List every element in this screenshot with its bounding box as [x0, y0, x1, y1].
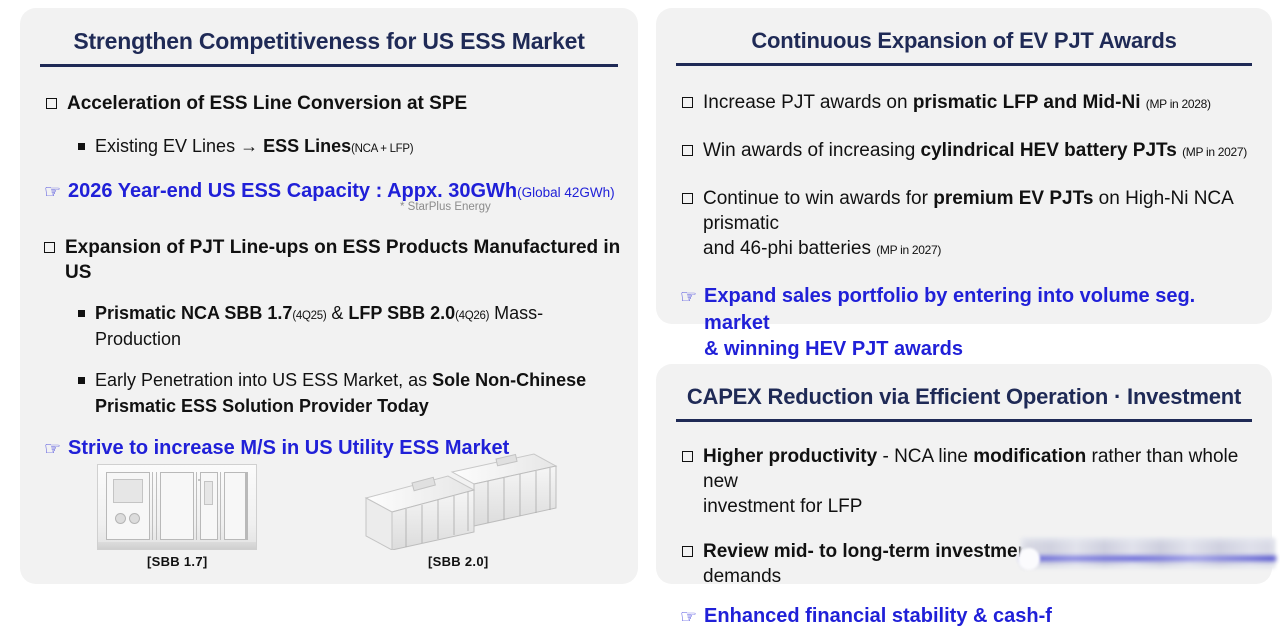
capex-item-1-mid: - NCA line — [877, 446, 973, 467]
left-item-5-small-1: (4Q25) — [292, 310, 326, 322]
left-item-5-bold-2: LFP SBB 2.0 — [348, 303, 455, 323]
sbb-2-0-caption: [SBB 2.0] — [356, 554, 561, 569]
sbb-1-7-product-image — [97, 464, 257, 550]
capex-item-1-line2: investment for LFP — [703, 496, 862, 517]
pointing-hand-icon: ☞ — [680, 608, 697, 627]
obscured-overlay-region — [1020, 537, 1276, 569]
capex-item-1-text: Higher productivity - NCA line modificat… — [703, 444, 1258, 519]
ev-item-3-pre: Continue to win awards for — [703, 188, 933, 209]
square-outline-bullet-icon — [682, 546, 693, 557]
slide-root: Strengthen Competitiveness for US ESS Ma… — [0, 0, 1280, 592]
square-outline-bullet-icon — [44, 242, 55, 253]
ev-item-1-text: Increase PJT awards on prismatic LFP and… — [703, 90, 1211, 115]
left-item-5-text: Prismatic NCA SBB 1.7(4Q25) & LFP SBB 2.… — [95, 301, 624, 352]
square-outline-bullet-icon — [682, 97, 693, 108]
list-item: Prismatic NCA SBB 1.7(4Q25) & LFP SBB 2.… — [78, 301, 624, 352]
left-item-2-pre: Existing EV Lines → — [95, 136, 263, 156]
sbb-2-0-block: [SBB 2.0] — [356, 450, 561, 569]
ev-item-2-text: Win awards of increasing cylindrical HEV… — [703, 138, 1247, 163]
ev-panel-body: Increase PJT awards on prismatic LFP and… — [656, 90, 1272, 363]
left-item-6-line2: Prismatic ESS Solution Provider Today — [95, 396, 429, 416]
list-item-highlight: ☞ Enhanced financial stability & cash-f — [680, 603, 1258, 629]
left-item-6-text: Early Penetration into US ESS Market, as… — [95, 368, 586, 419]
ev-item-1-bold: prismatic LFP and Mid-Ni — [913, 92, 1141, 113]
panel-ev-pjt-awards: Continuous Expansion of EV PJT Awards In… — [656, 8, 1272, 324]
list-item-highlight: ☞ 2026 Year-end US ESS Capacity : Appx. … — [44, 178, 624, 204]
list-item: Existing EV Lines → ESS Lines(NCA + LFP) — [78, 134, 624, 160]
ev-item-2-bold: cylindrical HEV battery PJTs — [921, 140, 1177, 161]
list-item: Higher productivity - NCA line modificat… — [682, 444, 1258, 519]
left-panel-body: Acceleration of ESS Line Conversion at S… — [20, 91, 638, 462]
ev-item-1-small: (MP in 2028) — [1146, 97, 1211, 111]
left-panel-title-rule — [40, 64, 618, 67]
ev-highlight-line2: & winning HEV PJT awards — [704, 338, 963, 360]
ev-panel-title-rule — [676, 63, 1252, 66]
ev-item-3-line2: and 46-phi batteries — [703, 238, 871, 259]
left-item-2-small: (NCA + LFP) — [351, 143, 413, 155]
list-item: Early Penetration into US ESS Market, as… — [78, 368, 624, 419]
left-item-5-small-2: (4Q26) — [455, 310, 489, 322]
capex-highlight: Enhanced financial stability & cash-f — [704, 603, 1052, 629]
sbb-1-7-block: [SBB 1.7] — [97, 464, 257, 569]
sbb-2-0-product-image — [356, 450, 561, 550]
capex-item-1-bold-2: modification — [973, 446, 1086, 467]
left-item-6-pre: Early Penetration into US ESS Market, as — [95, 370, 432, 390]
ev-item-1-pre: Increase PJT awards on — [703, 92, 913, 113]
left-item-5-bold-1: Prismatic NCA SBB 1.7 — [95, 303, 292, 323]
capex-item-1-bold-1: Higher productivity — [703, 446, 877, 467]
list-item: Increase PJT awards on prismatic LFP and… — [682, 90, 1258, 115]
left-item-2-text: Existing EV Lines → ESS Lines(NCA + LFP) — [95, 134, 413, 160]
ev-panel-title: Continuous Expansion of EV PJT Awards — [656, 8, 1272, 54]
left-item-2-bold: ESS Lines — [263, 136, 351, 156]
square-filled-bullet-icon — [78, 310, 85, 317]
list-item: Win awards of increasing cylindrical HEV… — [682, 138, 1258, 163]
sbb-2-0-svg — [356, 450, 561, 550]
list-item-highlight: ☞ Expand sales portfolio by entering int… — [680, 283, 1258, 362]
capex-panel-title-rule — [676, 419, 1252, 422]
ev-item-3-small: (MP in 2027) — [876, 243, 941, 257]
square-filled-bullet-icon — [78, 143, 85, 150]
square-outline-bullet-icon — [46, 98, 57, 109]
left-item-5-mid: & — [326, 303, 348, 323]
ev-highlight-line1: Expand sales portfolio by entering into … — [704, 285, 1195, 333]
pointing-hand-icon: ☞ — [680, 288, 697, 307]
pointing-hand-icon: ☞ — [44, 183, 61, 202]
starplus-energy-note: * StarPlus Energy — [400, 201, 491, 213]
sbb-1-7-caption: [SBB 1.7] — [97, 554, 257, 569]
obscured-overlay-dot — [1018, 548, 1040, 570]
ev-item-2-small: (MP in 2027) — [1182, 145, 1247, 159]
left-item-6-bold: Sole Non-Chinese — [432, 370, 586, 390]
ev-item-3-text: Continue to win awards for premium EV PJ… — [703, 186, 1258, 261]
capex-panel-title: CAPEX Reduction via Efficient Operation … — [656, 364, 1272, 410]
left-item-4-text: Expansion of PJT Line-ups on ESS Product… — [65, 235, 624, 285]
ev-item-3-bold: premium EV PJTs — [933, 188, 1093, 209]
left-highlight-1-small: (Global 42GWh) — [517, 185, 615, 200]
list-item: Expansion of PJT Line-ups on ESS Product… — [44, 235, 624, 285]
square-outline-bullet-icon — [682, 193, 693, 204]
product-image-row: [SBB 1.7] — [48, 450, 610, 569]
square-outline-bullet-icon — [682, 145, 693, 156]
square-outline-bullet-icon — [682, 451, 693, 462]
ev-highlight: Expand sales portfolio by entering into … — [704, 283, 1258, 362]
obscured-overlay-streak — [1020, 556, 1276, 561]
square-filled-bullet-icon — [78, 377, 85, 384]
left-item-1-text: Acceleration of ESS Line Conversion at S… — [67, 91, 467, 116]
left-panel-title: Strengthen Competitiveness for US ESS Ma… — [20, 8, 638, 55]
list-item: Acceleration of ESS Line Conversion at S… — [46, 91, 624, 116]
left-highlight-1-text: 2026 Year-end US ESS Capacity : Appx. 30… — [68, 180, 517, 202]
ev-item-2-pre: Win awards of increasing — [703, 140, 921, 161]
left-highlight-1: 2026 Year-end US ESS Capacity : Appx. 30… — [68, 178, 615, 204]
list-item: Continue to win awards for premium EV PJ… — [682, 186, 1258, 261]
panel-us-ess-market: Strengthen Competitiveness for US ESS Ma… — [20, 8, 638, 584]
